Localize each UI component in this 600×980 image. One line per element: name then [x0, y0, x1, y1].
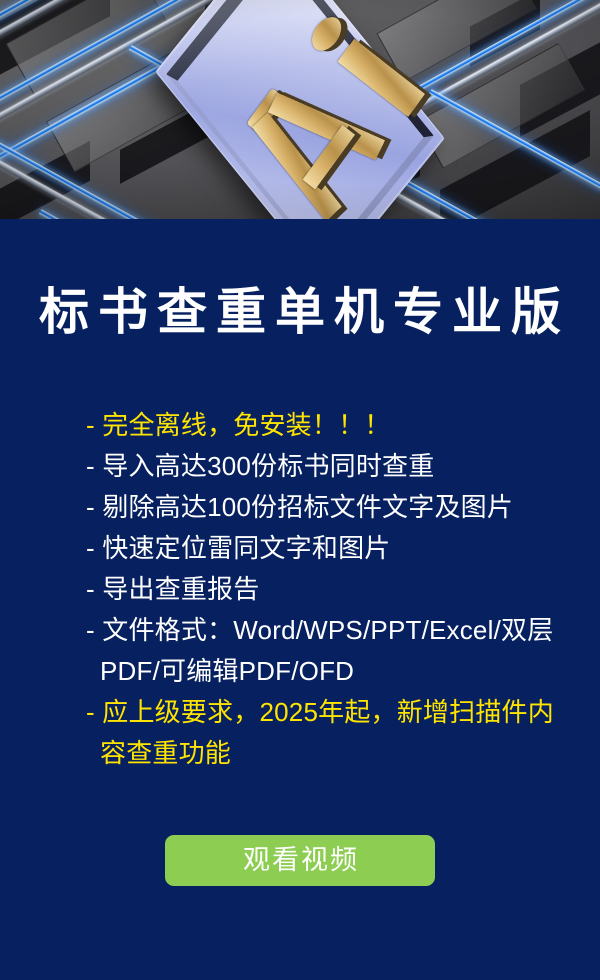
feature-item: - 剔除高达100份招标文件文字及图片 — [86, 487, 556, 528]
letter-i-dot — [306, 11, 347, 56]
letter-i-stem — [338, 39, 425, 117]
feature-item: - 导出查重报告 — [86, 569, 556, 610]
promo-poster: 标书查重单机专业版 - 完全离线，免安装！！！ - 导入高达300份标书同时查重… — [0, 0, 600, 980]
watch-video-button[interactable]: 观看视频 — [165, 835, 435, 886]
cta-row: 观看视频 — [0, 835, 600, 886]
page-title: 标书查重单机专业版 — [0, 287, 600, 337]
feature-list: - 完全离线，免安装！！！ - 导入高达300份标书同时查重 - 剔除高达100… — [86, 405, 556, 774]
feature-item: - 文件格式：Word/WPS/PPT/Excel/双层PDF/可编辑PDF/O… — [86, 610, 556, 692]
feature-item: - 应上级要求，2025年起，新增扫描件内容查重功能 — [86, 692, 556, 774]
feature-item: - 快速定位雷同文字和图片 — [86, 528, 556, 569]
poster-content: 标书查重单机专业版 - 完全离线，免安装！！！ - 导入高达300份标书同时查重… — [0, 219, 600, 980]
hero-banner-image — [0, 0, 600, 219]
feature-item: - 完全离线，免安装！！！ — [86, 405, 556, 446]
feature-item: - 导入高达300份标书同时查重 — [86, 446, 556, 487]
